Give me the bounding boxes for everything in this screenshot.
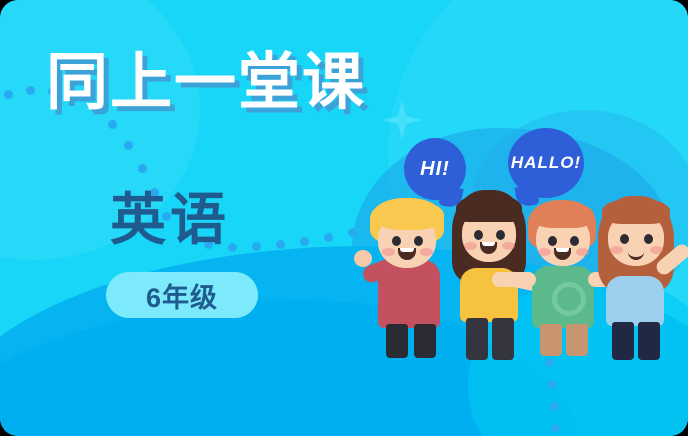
hallo-speech-bubble: HALLO! — [508, 128, 584, 198]
hallo-bubble-text: HALLO! — [511, 153, 581, 173]
banner-title: 同上一堂课 — [46, 52, 366, 114]
hi-bubble-text: HI! — [420, 158, 450, 181]
banner-subject: 英语 — [110, 192, 230, 248]
character-boy-blond-waving — [364, 198, 450, 358]
character-girl-auburn-hair — [592, 196, 684, 360]
course-banner: HI! HALLO! 同上一堂课 英语 6年级 — [0, 0, 688, 436]
grade-badge[interactable]: 6年级 — [106, 272, 258, 318]
hi-speech-bubble: HI! — [404, 138, 466, 200]
grade-badge-label: 6年级 — [146, 276, 218, 315]
